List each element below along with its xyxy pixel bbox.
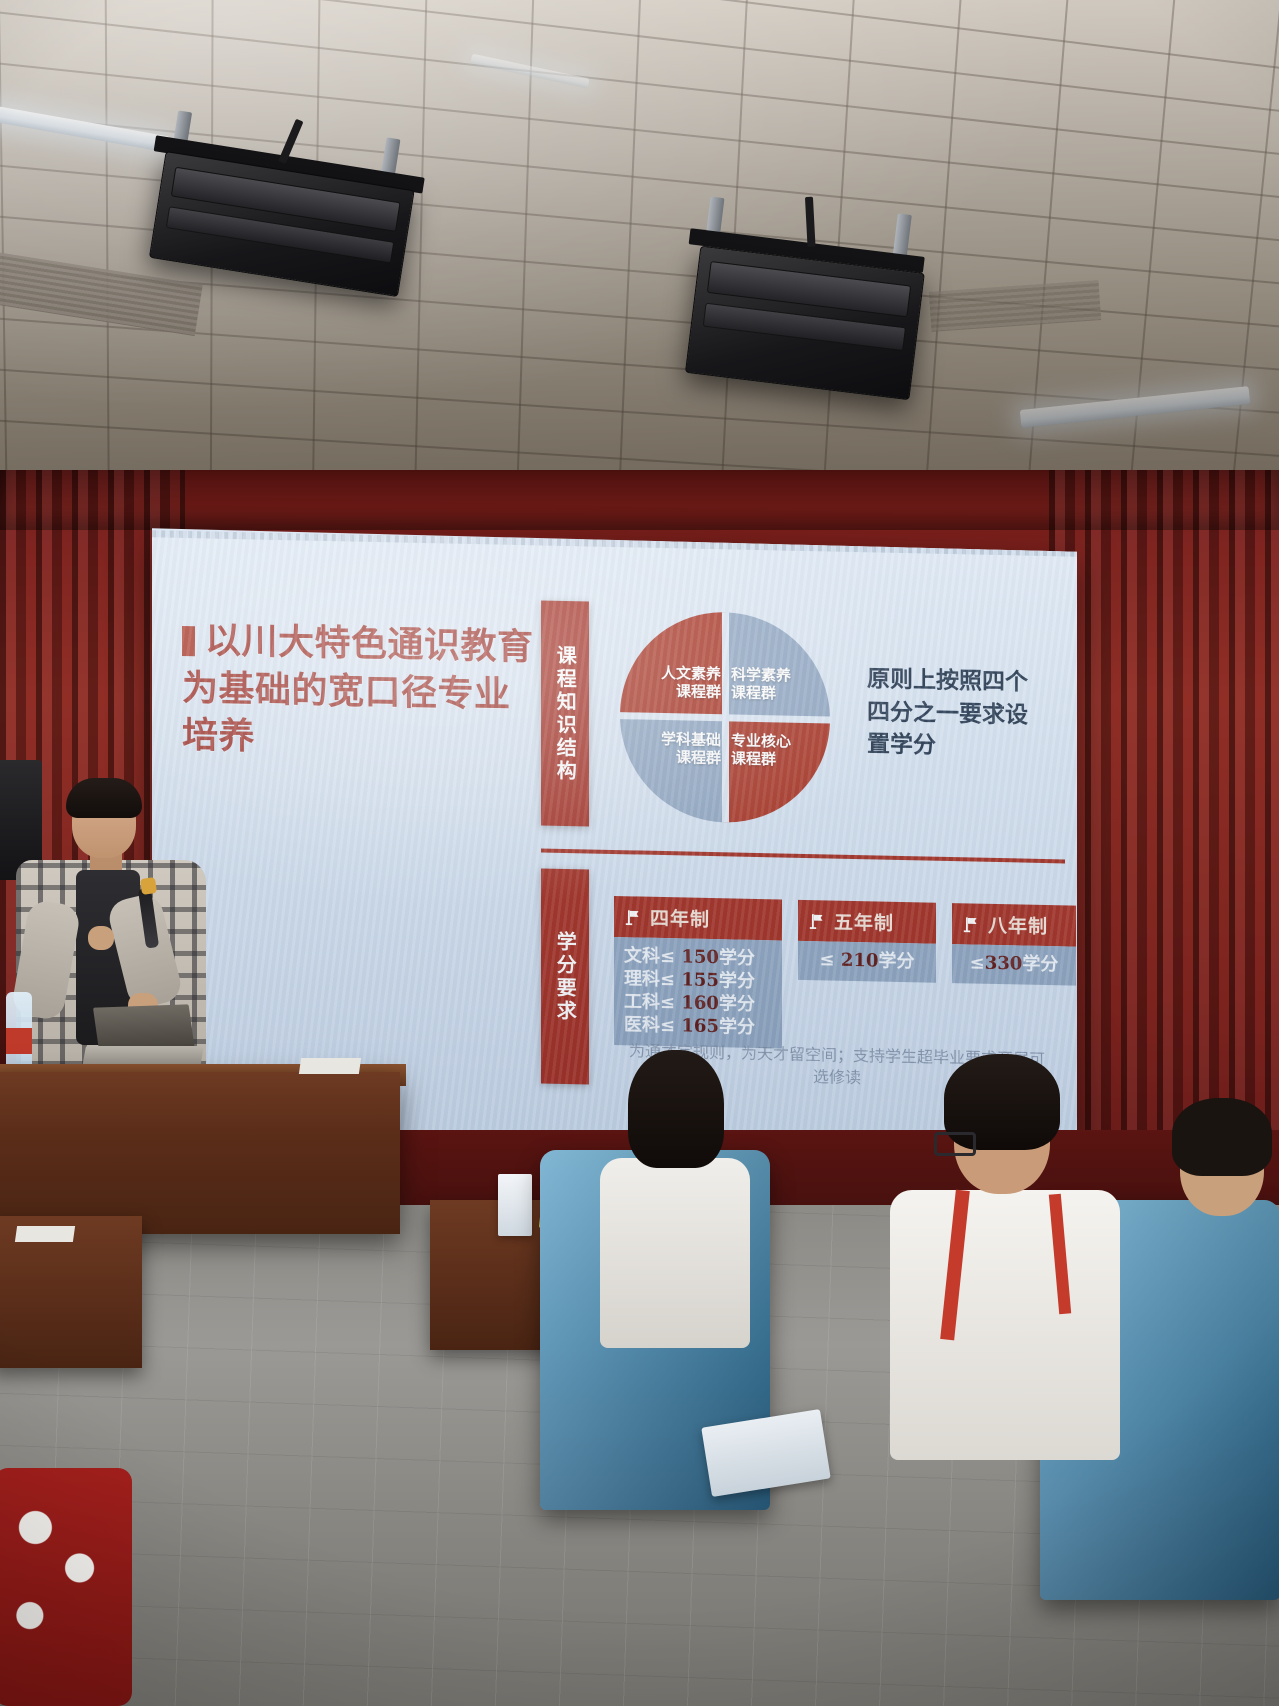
- lecture-hall-photo: 以川大特色通识教育为基础的宽口径专业培养 课程知识结构 学分要求 人文素养 课程…: [0, 0, 1279, 1706]
- credit-card-five-year-title: 五年制: [834, 908, 894, 936]
- audience-person-2: [890, 1040, 1120, 1460]
- credit-row: ≤330学分: [962, 951, 1066, 976]
- credit-card-four-year-header: 四年制: [614, 896, 782, 941]
- milk-carton: [498, 1174, 532, 1236]
- donut-label-science-line1: 科学素养: [731, 665, 791, 684]
- section-label-structure-text: 课程知识结构: [554, 644, 576, 782]
- flag-icon: [962, 915, 980, 933]
- credit-card-eight-year-body: ≤330学分: [952, 944, 1076, 986]
- credit-row: 理科≤ 155学分: [624, 967, 772, 993]
- audience-person-3: [1150, 1090, 1279, 1390]
- course-structure-donut-chart: 人文素养 课程群 科学素养 课程群 学科基础 课程群: [620, 610, 830, 824]
- credit-card-five-year-body: ≤ 210学分: [798, 941, 936, 983]
- donut-label-humanities-line1: 人文素养: [661, 664, 721, 683]
- podium-paper: [299, 1058, 361, 1074]
- audience-person-1: [600, 1040, 750, 1340]
- flag-icon: [624, 908, 642, 926]
- donut-quadrant-major-core: 专业核心 课程群: [725, 717, 830, 824]
- presenter-hair: [66, 778, 142, 818]
- audience-2-torso: [890, 1190, 1120, 1460]
- credit-card-eight-year: 八年制 ≤330学分: [952, 903, 1076, 986]
- credit-row: 文科≤ 150学分: [624, 944, 772, 970]
- donut-label-discipline-line2: 课程群: [676, 748, 721, 767]
- credit-card-eight-year-title: 八年制: [988, 911, 1048, 939]
- title-bullet-icon: [182, 626, 195, 656]
- donut-label-humanities: 人文素养 课程群: [661, 664, 721, 701]
- credit-row: 工科≤ 160学分: [624, 990, 772, 1016]
- slide-note-right: 原则上按照四个四分之一要求设置学分: [867, 663, 1037, 765]
- credit-card-eight-year-header: 八年制: [952, 903, 1076, 947]
- microphone-tip: [140, 877, 157, 895]
- donut-label-major-core: 专业核心 课程群: [731, 731, 791, 768]
- credit-cards: 四年制 文科≤ 150学分 理科≤ 155学分 工科≤ 160学分 医科≤ 16…: [614, 896, 1054, 1054]
- donut-label-science-line2: 课程群: [731, 683, 776, 702]
- donut-quadrant-discipline-basics: 学科基础 课程群: [620, 715, 725, 822]
- donut-quadrant-humanities: 人文素养 课程群: [620, 610, 725, 717]
- presenter-hand-left: [88, 926, 114, 950]
- audience-3-torso: [1150, 1210, 1279, 1410]
- donut-label-discipline-basics: 学科基础 课程群: [661, 730, 721, 767]
- credit-card-four-year-body: 文科≤ 150学分 理科≤ 155学分 工科≤ 160学分 医科≤ 165学分: [614, 937, 782, 1049]
- credit-card-four-year-title: 四年制: [650, 904, 710, 932]
- audience-3-hair: [1172, 1098, 1272, 1176]
- water-bottle-label: [6, 1028, 32, 1054]
- credit-row: ≤ 210学分: [808, 948, 926, 974]
- donut-quadrant-science: 科学素养 课程群: [725, 612, 830, 719]
- credit-card-four-year: 四年制 文科≤ 150学分 理科≤ 155学分 工科≤ 160学分 医科≤ 16…: [614, 896, 782, 1049]
- donut-label-science: 科学素养 课程群: [731, 665, 791, 702]
- audience-1-hair: [628, 1050, 724, 1168]
- audience-1-torso: [600, 1158, 750, 1348]
- donut-label-major-core-line2: 课程群: [731, 749, 776, 768]
- slide-divider: [541, 848, 1065, 863]
- credit-card-five-year-header: 五年制: [798, 900, 936, 944]
- podium: [0, 1072, 400, 1234]
- donut-label-major-core-line1: 专业核心: [731, 731, 791, 750]
- flower-bouquet: [0, 1468, 132, 1706]
- credit-row: 医科≤ 165学分: [624, 1013, 772, 1039]
- audience-2-glasses-icon: [934, 1132, 976, 1156]
- flag-icon: [808, 912, 826, 930]
- donut-label-discipline-line1: 学科基础: [661, 730, 721, 749]
- ceiling: [0, 0, 1279, 500]
- slide-title-text: 以川大特色通识教育为基础的宽口径专业培养: [182, 619, 534, 757]
- credit-card-five-year: 五年制 ≤ 210学分: [798, 900, 936, 983]
- section-label-credits-text: 学分要求: [554, 930, 576, 1022]
- audience-paper-left: [15, 1226, 75, 1242]
- section-label-structure: 课程知识结构: [541, 600, 589, 826]
- section-label-credits: 学分要求: [541, 868, 589, 1084]
- slide-title: 以川大特色通识教育为基础的宽口径专业培养: [182, 617, 534, 767]
- donut-label-humanities-line2: 课程群: [676, 682, 721, 701]
